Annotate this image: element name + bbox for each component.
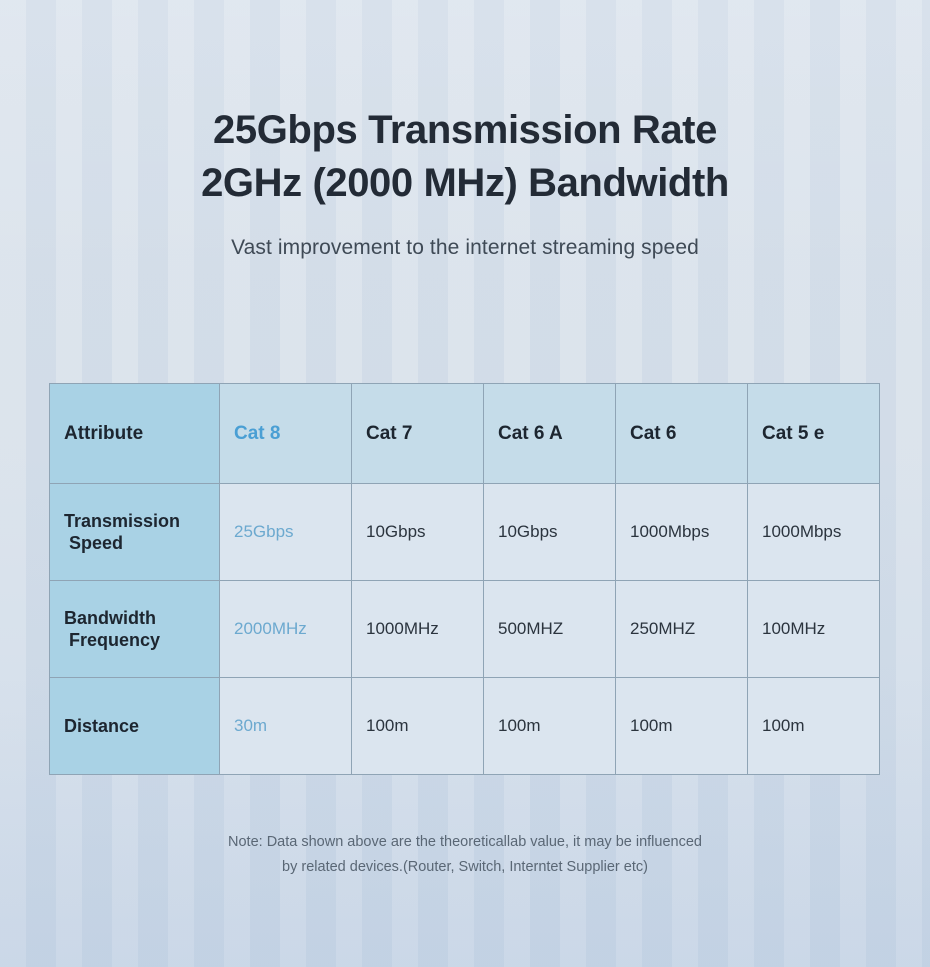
cell-bandwidth-frequency-cat-7: 1000MHz: [352, 581, 484, 678]
column-header-cat-7: Cat 7: [352, 384, 484, 484]
cell-distance-cat-6a: 100m: [484, 678, 616, 775]
cell-distance-cat-8: 30m: [220, 678, 352, 775]
column-header-attribute: Attribute: [50, 384, 220, 484]
cell-bandwidth-frequency-cat-6: 250MHZ: [616, 581, 748, 678]
table-row: Transmission Speed 25Gbps 10Gbps 10Gbps …: [50, 484, 880, 581]
cell-bandwidth-frequency-cat-6a: 500MHZ: [484, 581, 616, 678]
cell-bandwidth-frequency-cat-8: 2000MHz: [220, 581, 352, 678]
page-title-line-2: 2GHz (2000 MHz) Bandwidth: [0, 157, 930, 210]
cell-bandwidth-frequency-cat-5e: 100MHz: [748, 581, 880, 678]
column-header-cat-5e: Cat 5 e: [748, 384, 880, 484]
cell-transmission-speed-cat-6a: 10Gbps: [484, 484, 616, 581]
table-row: Distance 30m 100m 100m 100m 100m: [50, 678, 880, 775]
column-header-cat-6a: Cat 6 A: [484, 384, 616, 484]
table-header-row: Attribute Cat 8 Cat 7 Cat 6 A Cat 6 Cat …: [50, 384, 880, 484]
row-label-line-1: Distance: [64, 716, 139, 736]
page-subtitle: Vast improvement to the internet streami…: [0, 236, 930, 260]
row-label-line-1: Bandwidth: [64, 608, 156, 628]
page-root: 25Gbps Transmission Rate 2GHz (2000 MHz)…: [0, 0, 930, 967]
column-header-cat-6: Cat 6: [616, 384, 748, 484]
row-label-line-1: Transmission: [64, 511, 180, 531]
row-label-transmission-speed: Transmission Speed: [50, 484, 220, 581]
column-header-cat-8: Cat 8: [220, 384, 352, 484]
page-title-line-1: 25Gbps Transmission Rate: [0, 104, 930, 157]
footnote-line-2: by related devices.(Router, Switch, Inte…: [0, 855, 930, 880]
heading-block: 25Gbps Transmission Rate 2GHz (2000 MHz)…: [0, 0, 930, 260]
cell-transmission-speed-cat-5e: 1000Mbps: [748, 484, 880, 581]
cell-distance-cat-7: 100m: [352, 678, 484, 775]
footnote-block: Note: Data shown above are the theoretic…: [0, 830, 930, 880]
cell-transmission-speed-cat-7: 10Gbps: [352, 484, 484, 581]
row-label-distance: Distance: [50, 678, 220, 775]
cell-distance-cat-5e: 100m: [748, 678, 880, 775]
cell-transmission-speed-cat-6: 1000Mbps: [616, 484, 748, 581]
table-row: Bandwidth Frequency 2000MHz 1000MHz 500M…: [50, 581, 880, 678]
spec-comparison-table: Attribute Cat 8 Cat 7 Cat 6 A Cat 6 Cat …: [49, 383, 880, 775]
cell-distance-cat-6: 100m: [616, 678, 748, 775]
spec-table-container: Attribute Cat 8 Cat 7 Cat 6 A Cat 6 Cat …: [49, 383, 880, 775]
table-body: Transmission Speed 25Gbps 10Gbps 10Gbps …: [50, 484, 880, 775]
row-label-line-2: Frequency: [64, 629, 205, 652]
table-head: Attribute Cat 8 Cat 7 Cat 6 A Cat 6 Cat …: [50, 384, 880, 484]
row-label-bandwidth-frequency: Bandwidth Frequency: [50, 581, 220, 678]
row-label-line-2: Speed: [64, 532, 205, 555]
cell-transmission-speed-cat-8: 25Gbps: [220, 484, 352, 581]
footnote-line-1: Note: Data shown above are the theoretic…: [0, 830, 930, 855]
